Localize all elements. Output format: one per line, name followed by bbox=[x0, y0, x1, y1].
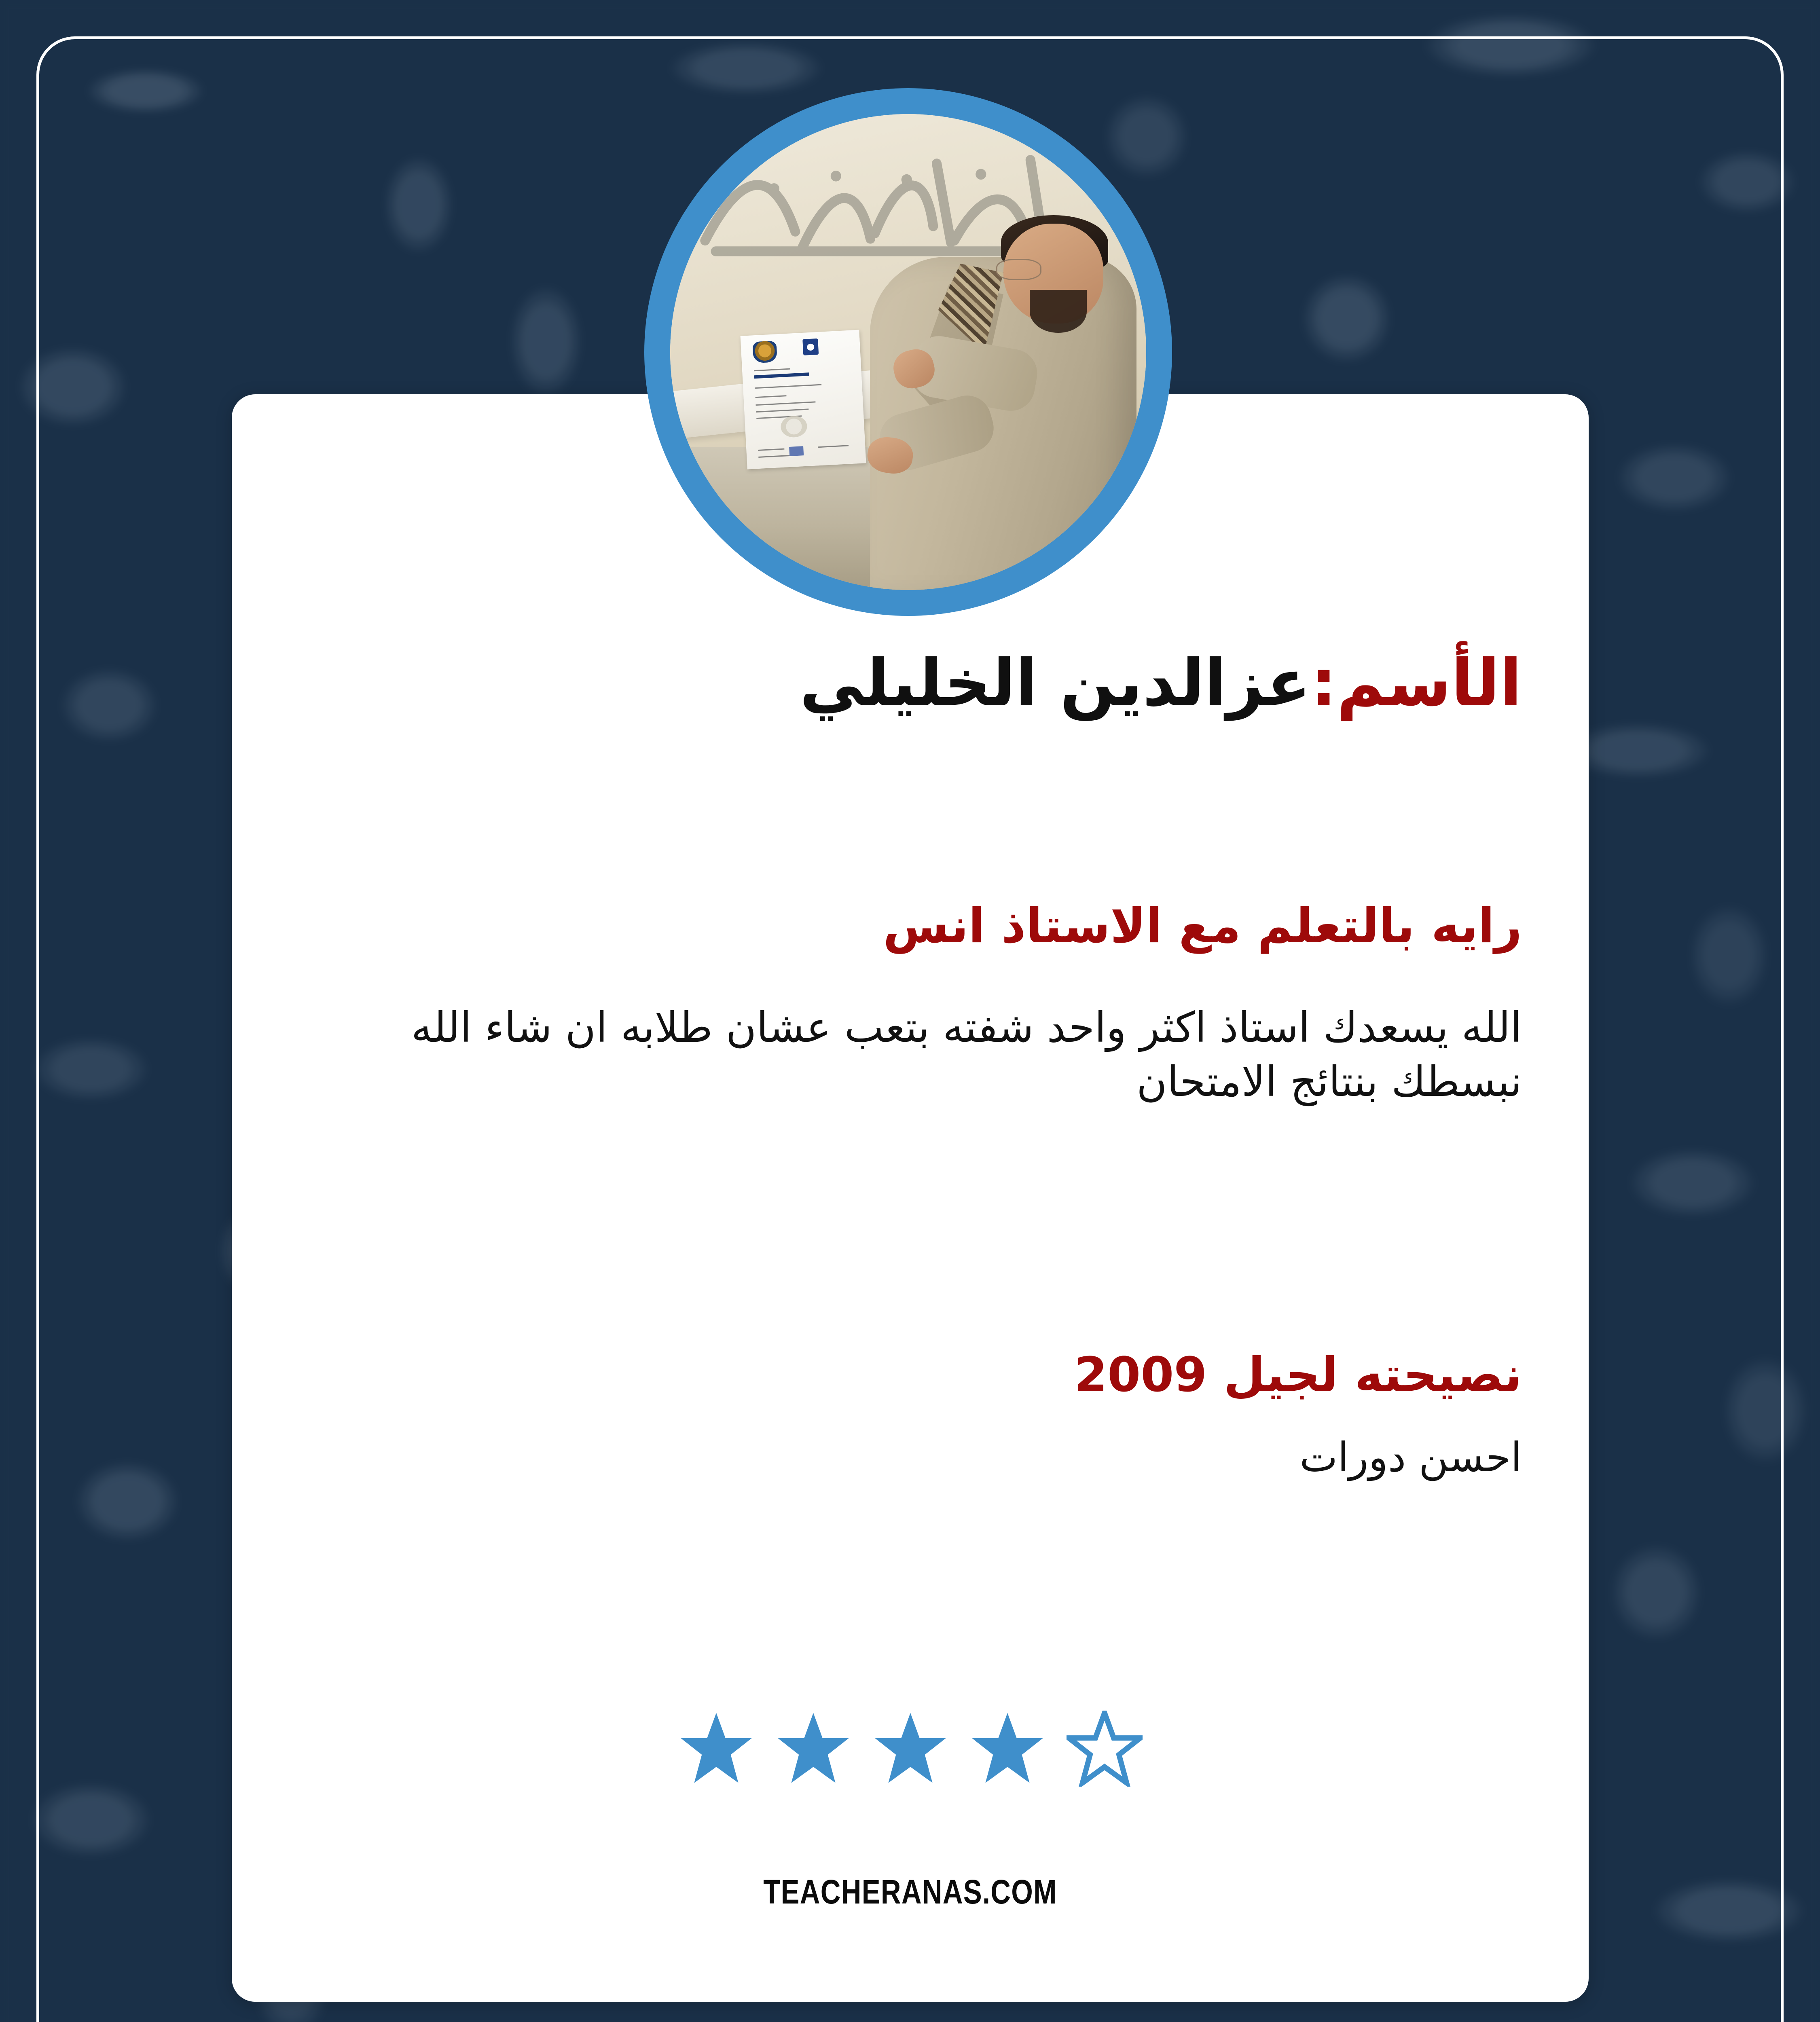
teacher-name-line: الأسم:عزالدين الخليلي bbox=[800, 646, 1522, 720]
avatar bbox=[644, 88, 1172, 616]
site-url-footer[interactable]: TEACHERANAS.COM bbox=[354, 1872, 1467, 1912]
photo-certificate bbox=[741, 330, 866, 469]
advice-body: احسن دورات bbox=[1299, 1432, 1522, 1483]
star-filled-icon[interactable] bbox=[678, 1711, 754, 1787]
opinion-heading: رايه بالتعلم مع الاستاذ انس bbox=[883, 898, 1522, 954]
photo-person-glasses bbox=[996, 259, 1041, 280]
advice-heading: نصيحته لجيل 2009 bbox=[1074, 1347, 1522, 1403]
name-label: الأسم: bbox=[1311, 645, 1522, 721]
avatar-photo bbox=[670, 114, 1146, 590]
star-rating[interactable] bbox=[678, 1711, 1143, 1787]
certificate-crest-icon bbox=[753, 341, 778, 364]
opinion-body: الله يسعدك استاذ اكثر واحد شفته بتعب عشا… bbox=[292, 1001, 1522, 1109]
content-card: الأسم:عزالدين الخليلي رايه بالتعلم مع ال… bbox=[232, 394, 1589, 2002]
card-inner: الأسم:عزالدين الخليلي رايه بالتعلم مع ال… bbox=[232, 394, 1589, 2002]
star-filled-icon[interactable] bbox=[775, 1711, 851, 1787]
star-filled-icon[interactable] bbox=[969, 1711, 1045, 1787]
star-filled-icon[interactable] bbox=[872, 1711, 948, 1787]
certificate-seal-icon bbox=[781, 415, 808, 438]
photo-person-beard bbox=[1030, 290, 1087, 333]
open-university-logo-icon bbox=[803, 339, 819, 355]
testimonial-poster: الأسم:عزالدين الخليلي رايه بالتعلم مع ال… bbox=[0, 0, 1820, 2022]
name-value: عزالدين الخليلي bbox=[800, 645, 1311, 721]
star-empty-icon[interactable] bbox=[1067, 1711, 1143, 1787]
certificate-degree-title bbox=[755, 372, 810, 379]
certificate-stamp-icon bbox=[789, 446, 804, 457]
